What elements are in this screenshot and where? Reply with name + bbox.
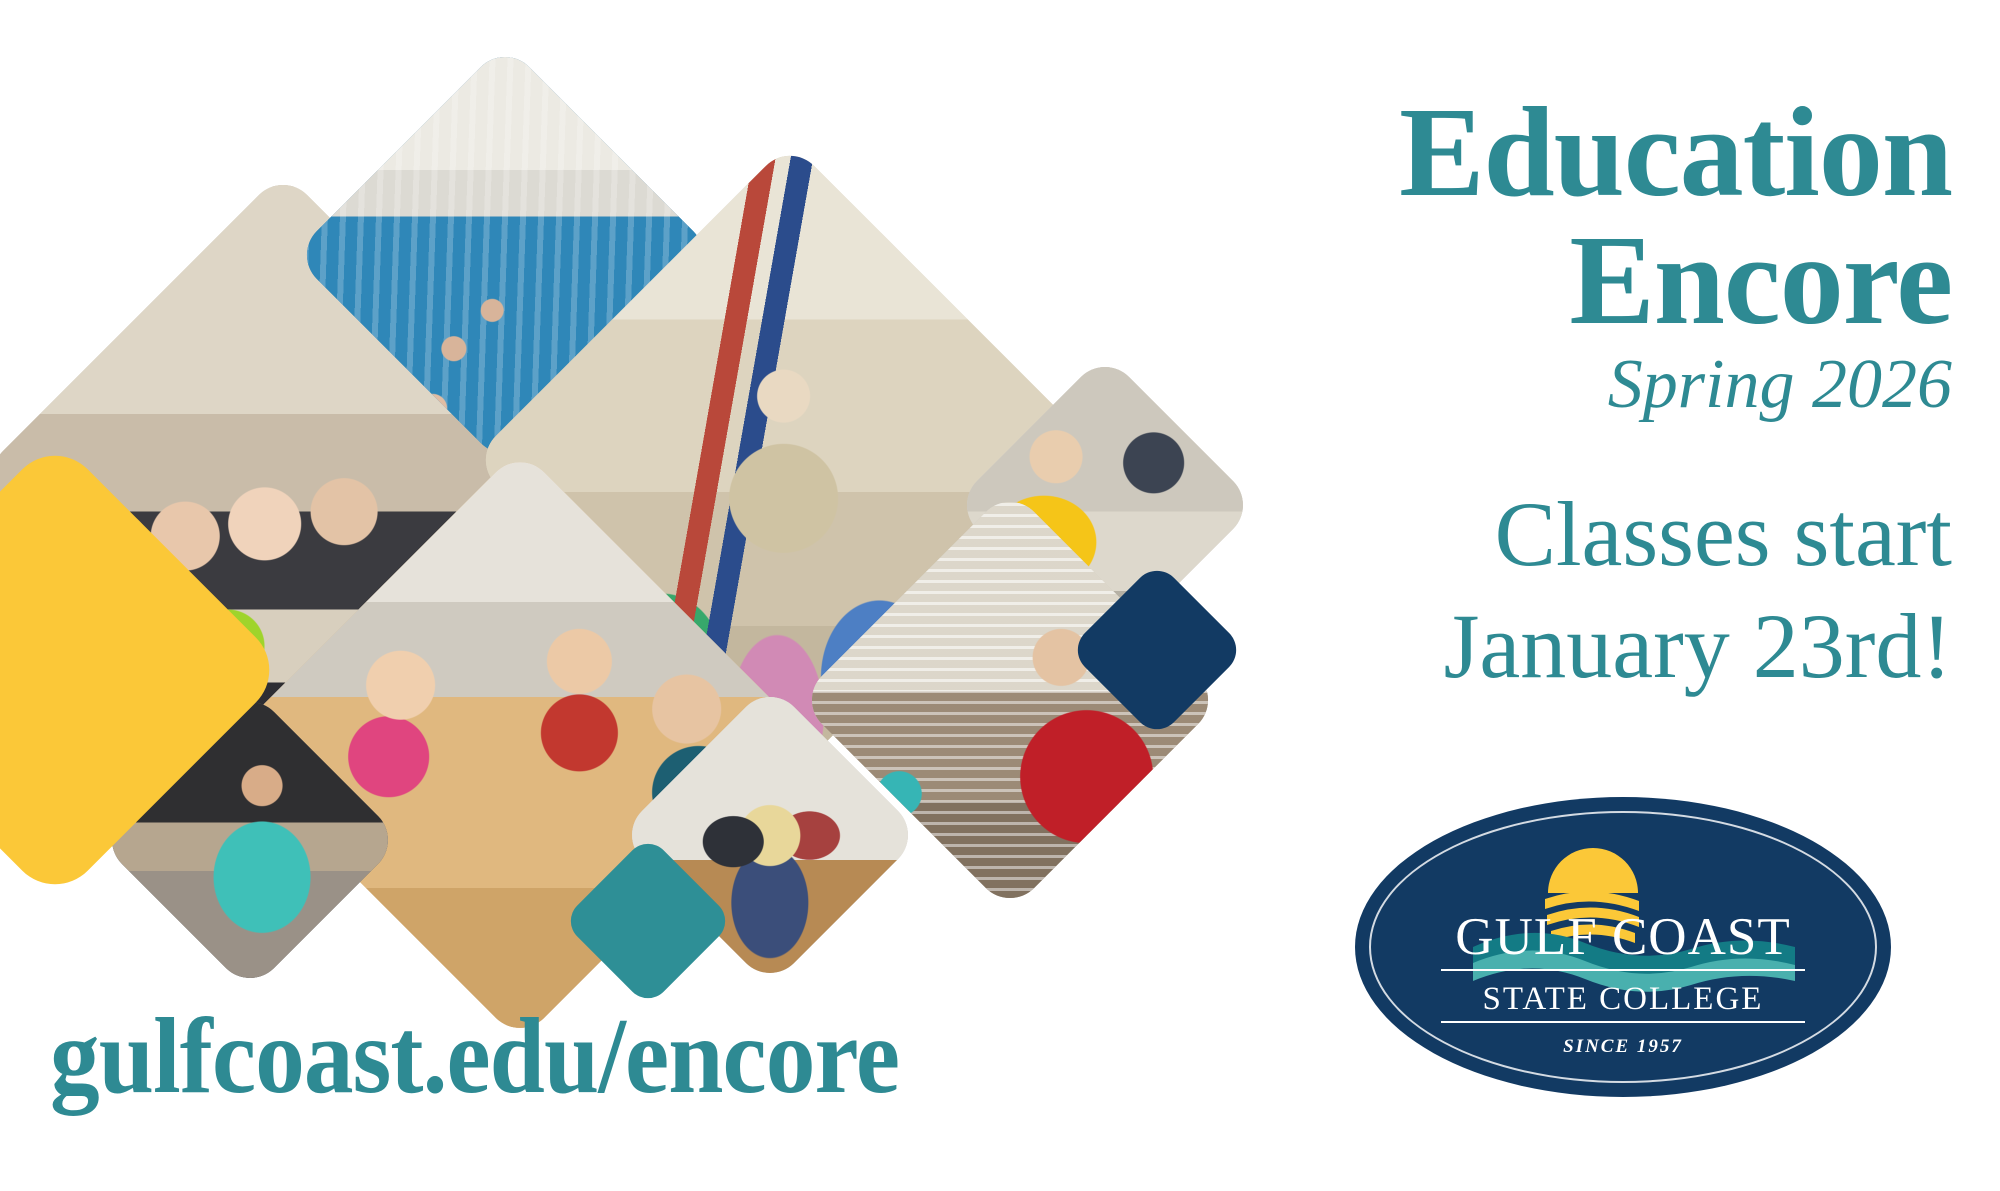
gulf-coast-state-college-logo[interactable]: GULF COAST STATE COLLEGE SINCE 1957	[1355, 797, 1891, 1097]
headline-block: Education Encore Spring 2026	[1092, 88, 1952, 422]
flyer-canvas: Education Encore Spring 2026 Classes sta…	[0, 0, 2000, 1191]
headline-line-2: Encore	[1092, 216, 1952, 344]
logo-rule-bottom	[1441, 1021, 1805, 1023]
logo-title-primary: GULF COAST	[1355, 911, 1891, 964]
website-url[interactable]: gulfcoast.edu/encore	[50, 995, 899, 1119]
logo-tagline: SINCE 1957	[1355, 1037, 1891, 1056]
cta-line-1: Classes start	[1092, 478, 1952, 590]
cta-block: Classes start January 23rd!	[1092, 478, 1952, 702]
logo-title-secondary: STATE COLLEGE	[1355, 983, 1891, 1016]
term-label: Spring 2026	[1092, 348, 1952, 422]
logo-rule-top	[1441, 969, 1805, 971]
headline-line-1: Education	[1092, 88, 1952, 216]
sun-icon	[1548, 848, 1638, 893]
cta-line-2: January 23rd!	[1092, 590, 1952, 702]
